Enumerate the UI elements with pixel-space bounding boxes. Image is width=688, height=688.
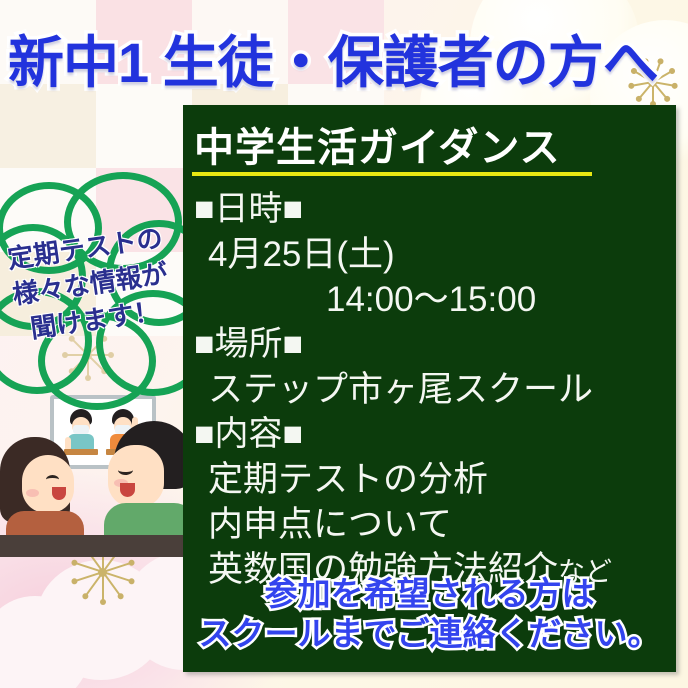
section-heading-venue: ■場所■	[194, 322, 672, 367]
poster-canvas: 新中1 生徒・保護者の方へ	[0, 0, 688, 688]
mother-face	[22, 455, 74, 513]
panel-body: ■日時■ 4月25日(土) 14:00〜15:00 ■場所■ ステップ市ヶ尾スク…	[194, 187, 672, 595]
cta-line-2: スクールまでご連絡ください。	[183, 614, 676, 654]
father-eye	[118, 465, 133, 475]
foreground-desk	[0, 535, 198, 557]
illustration-parents-watching-screen	[4, 385, 186, 585]
datetime-date: 4月25日(土)	[194, 232, 672, 277]
father-face	[108, 445, 164, 507]
content-item-2: 内申点について	[194, 502, 672, 547]
information-panel: 中学生活ガイダンス ■日時■ 4月25日(土) 14:00〜15:00 ■場所■…	[183, 105, 676, 672]
call-to-action: 参加を希望される方は スクールまでご連絡ください。	[183, 574, 676, 654]
venue-name: ステップ市ヶ尾スクール	[194, 367, 672, 412]
title-underline	[192, 172, 592, 176]
mother-cheek	[26, 489, 39, 497]
section-heading-contents: ■内容■	[194, 412, 672, 457]
poster-headline: 新中1 生徒・保護者の方へ	[8, 18, 680, 99]
parent-figure-mother	[0, 437, 84, 549]
face-mask-icon	[73, 425, 89, 434]
cta-line-1: 参加を希望される方は	[183, 574, 676, 614]
speech-bubble: 定期テストの 様々な情報が 聞けます！	[0, 172, 194, 402]
panel-title: 中学生活ガイダンス	[194, 115, 561, 173]
content-item-1: 定期テストの分析	[194, 457, 672, 502]
datetime-time: 14:00〜15:00	[194, 277, 672, 322]
section-heading-datetime: ■日時■	[194, 187, 672, 232]
mother-eye	[46, 475, 59, 484]
